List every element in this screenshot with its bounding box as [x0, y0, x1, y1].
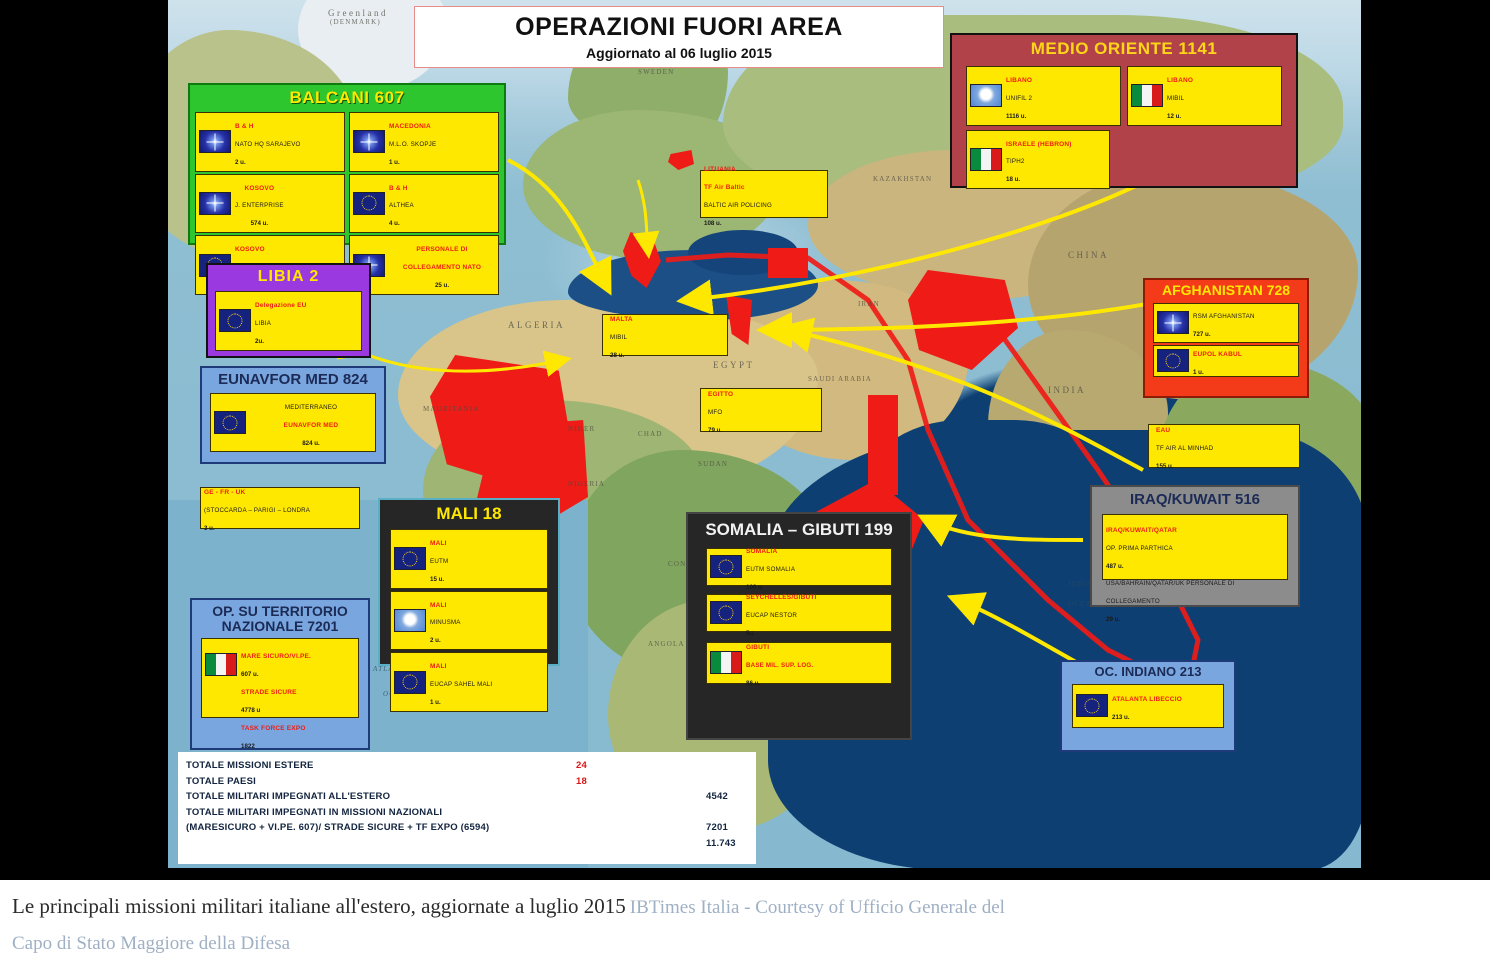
mission-item[interactable]: KOSOVO J. ENTERPRISE 574 u.	[195, 174, 345, 234]
nato-flag-icon	[1157, 311, 1189, 334]
mission-country: EGITTO	[708, 391, 733, 398]
panel-somalia-gibuti[interactable]: SOMALIA – GIBUTI 199 SOMALIA EUTM SOMALI…	[686, 512, 912, 740]
box-egitto[interactable]: EGITTO MFO 79 u.	[700, 388, 822, 432]
mission-operation: TF AIR AL MINHAD	[1156, 445, 1213, 452]
mission-country: MACEDONIA	[389, 123, 431, 130]
eu-flag-icon	[710, 555, 742, 578]
un-flag-icon	[970, 84, 1002, 107]
panel-balcani-title: BALCANI 607	[190, 85, 504, 110]
mission-item[interactable]: RSM AFGHANISTAN 727 u.	[1153, 303, 1299, 343]
italy-flag-icon	[205, 653, 237, 676]
infographic-figure: Greenland (DENMARK) ICELAND NORWAY SWEDE…	[0, 0, 1490, 880]
mission-country: MARE SICURO/VI.PE.	[241, 653, 311, 660]
panel-territorio-nazionale[interactable]: OP. SU TERRITORIO NAZIONALE 7201 MARE SI…	[190, 598, 370, 750]
mission-units: 155 u.	[1156, 463, 1174, 470]
totals-label: TOTALE MILITARI IMPEGNATI ALL'ESTERO	[186, 789, 390, 805]
mission-units: 108 u.	[704, 220, 722, 227]
title-subtitle: Aggiornato al 06 luglio 2015	[586, 45, 772, 61]
mission-operation: MIBIL	[1167, 95, 1184, 102]
liaison-units: 3 u.	[204, 525, 215, 532]
mission-country: STRADE SICURE	[241, 689, 297, 696]
panel-somalia-title: SOMALIA – GIBUTI 199	[688, 514, 910, 546]
nato-flag-icon	[353, 130, 385, 153]
highlight-india-coast	[868, 395, 898, 495]
mission-country: TASK FORCE EXPO	[241, 725, 306, 732]
italy-flag-icon	[710, 651, 742, 674]
mission-country: ISRAELE (HEBRON)	[1006, 141, 1072, 148]
mission-liaison: USA/BAHRAIN/QATAR/UK PERSONALE DI COLLEG…	[1106, 580, 1234, 605]
mission-operation: EUCAP NESTOR	[746, 612, 797, 619]
mission-country: MALI	[430, 663, 447, 670]
box-lituania[interactable]: LITUANIA TF Air Baltic BALTIC AIR POLICI…	[700, 170, 828, 218]
map-label: IRAN	[858, 300, 880, 308]
map-label: (DENMARK)	[330, 18, 381, 26]
mission-units: 213 u.	[1112, 714, 1130, 721]
mission-country: MALI	[430, 602, 447, 609]
mission-item[interactable]: SEYCHELLES/GIBUTI EUCAP NESTOR 5u.	[706, 594, 892, 632]
mission-item[interactable]: MALI MINUSMA 2 u.	[390, 591, 548, 651]
panel-iraq-title: IRAQ/KUWAIT 516	[1092, 487, 1298, 512]
mission-units: 25 u.	[435, 282, 449, 289]
eu-flag-icon	[394, 547, 426, 570]
figure-caption: Le principali missioni militari italiane…	[0, 880, 1490, 976]
mission-units: 1 u.	[430, 699, 441, 706]
mission-detail: BALTIC AIR POLICING	[704, 202, 772, 209]
mission-country: LIBANO	[1006, 77, 1032, 84]
mission-country: IRAQ/KUWAIT/QATAR	[1106, 527, 1177, 534]
totals-value: 18	[576, 774, 587, 790]
panel-oceano-indiano[interactable]: OC. INDIANO 213 ATALANTA LIBECCIO 213 u.	[1060, 660, 1236, 752]
mission-item[interactable]: IRAQ/KUWAIT/QATAR OP. PRIMA PARTHICA 487…	[1102, 514, 1288, 580]
totals-value: 4542	[706, 789, 728, 805]
mission-units: 79 u.	[708, 427, 722, 434]
mission-liaison-units: 29 u.	[1106, 616, 1120, 623]
mission-units: 2u.	[255, 338, 264, 345]
mission-operation: TIPH2	[1006, 158, 1025, 165]
mission-country: KOSOVO	[244, 185, 274, 192]
mission-units: 607 u.	[241, 671, 259, 678]
mission-country: EUPOL KABUL	[1193, 351, 1242, 358]
panel-afghanistan-title: AFGHANISTAN 728	[1145, 280, 1307, 301]
mission-country: Delegazione EU	[255, 302, 307, 309]
mission-units: 1822	[241, 743, 255, 750]
totals-row: TOTALE MILITARI IMPEGNATI IN MISSIONI NA…	[186, 805, 748, 821]
mission-operation: ALTHEA	[389, 202, 414, 209]
mission-operation: LIBIA	[255, 320, 271, 327]
mission-units: 824 u.	[302, 440, 320, 447]
mission-item[interactable]: MARE SICURO/VI.PE. 607 u. STRADE SICURE …	[201, 638, 359, 718]
mission-country: EAU	[1156, 427, 1170, 434]
mission-units: 18 u.	[1006, 176, 1020, 183]
mission-item[interactable]: ISRAELE (HEBRON) TIPH2 18 u.	[966, 130, 1110, 190]
mission-item[interactable]: B & H NATO HQ SARAJEVO 2 u.	[195, 112, 345, 172]
mission-units: 4778 u	[241, 707, 260, 714]
totals-row: TOTALE MILITARI IMPEGNATI ALL'ESTERO 454…	[186, 789, 748, 805]
eu-flag-icon	[219, 309, 251, 332]
panel-medio-oriente[interactable]: MEDIO ORIENTE 1141 LIBANO UNIFIL 2 1116 …	[950, 33, 1298, 188]
mission-country: GIBUTI	[746, 644, 769, 651]
mission-units: 2 u.	[235, 159, 246, 166]
mission-item[interactable]: PERSONALE DI COLLEGAMENTO NATO 25 u.	[349, 235, 499, 295]
box-ge-fr-uk[interactable]: GE - FR - UK (STOCCARDA – PARIGI – LONDR…	[200, 487, 360, 529]
map-label: Greenland	[328, 8, 388, 18]
title-card: OPERAZIONI FUORI AREA Aggiornato al 06 l…	[414, 6, 944, 68]
mission-operation: EUTM	[430, 558, 448, 565]
mission-item[interactable]: EUPOL KABUL 1 u.	[1153, 345, 1299, 377]
mission-operation: EUTM SOMALIA	[746, 566, 795, 573]
liaison-countries: GE - FR - UK	[204, 489, 245, 496]
map-label: CHAD	[638, 430, 663, 438]
mission-item[interactable]: B & H ALTHEA 4 u.	[349, 174, 499, 234]
eu-flag-icon	[394, 671, 426, 694]
totals-label: TOTALE MISSIONI ESTERE	[186, 758, 314, 774]
mission-units: 15 u.	[430, 576, 444, 583]
map-label: INDIA	[1048, 385, 1086, 395]
panel-nazionale-title: OP. SU TERRITORIO NAZIONALE 7201	[192, 600, 368, 636]
panel-libia-title: LIBIA 2	[208, 265, 369, 289]
totals-label: TOTALE MILITARI IMPEGNATI IN MISSIONI NA…	[186, 805, 442, 821]
mission-operation: EUCAP SAHEL MALI	[430, 681, 492, 688]
mission-country: SOMALIA	[746, 548, 777, 555]
liaison-cities: (STOCCARDA – PARIGI – LONDRA	[204, 507, 310, 514]
map-label: NIGER	[568, 425, 595, 433]
panel-afghanistan[interactable]: AFGHANISTAN 728 RSM AFGHANISTAN 727 u. E…	[1143, 278, 1309, 398]
mission-units: 86 u.	[746, 680, 760, 687]
panel-eunavfor-med[interactable]: EUNAVFOR MED 824 MEDITERRANEO EUNAVFOR M…	[200, 366, 386, 464]
mission-operation: M.L.O. SKOPJE	[389, 141, 436, 148]
box-malta[interactable]: MALTA MIBIL 28 u.	[602, 314, 728, 356]
nato-flag-icon	[199, 130, 231, 153]
mission-item[interactable]: Delegazione EU LIBIA 2u.	[215, 291, 362, 351]
caption-main: Le principali missioni militari italiane…	[12, 894, 626, 918]
mission-operation: RSM AFGHANISTAN	[1193, 313, 1255, 320]
mission-item[interactable]: MALI EUTM 15 u.	[390, 529, 548, 589]
map-label: SUDAN	[698, 460, 728, 468]
map-label: CHINA	[1068, 250, 1109, 260]
highlight-turkey-levant	[768, 248, 808, 278]
italy-flag-icon	[1131, 84, 1163, 107]
mission-units: 487 u.	[1106, 563, 1124, 570]
eu-flag-icon	[1157, 349, 1189, 372]
un-flag-icon	[394, 609, 426, 632]
map-label: ALGERIA	[508, 320, 565, 330]
nato-flag-icon	[199, 192, 231, 215]
map-label: SAUDI ARABIA	[808, 375, 872, 383]
box-eau[interactable]: EAU TF AIR AL MINHAD 155 u.	[1148, 424, 1300, 468]
panel-iraq-kuwait[interactable]: IRAQ/KUWAIT 516 IRAQ/KUWAIT/QATAR OP. PR…	[1090, 485, 1300, 607]
mission-units: 727 u.	[1193, 331, 1211, 338]
totals-row: TOTALE PAESI 18	[186, 774, 748, 790]
mission-country: ATALANTA LIBECCIO	[1112, 696, 1182, 703]
mission-country: KOSOVO	[235, 246, 265, 253]
totals-label: (MARESICURO + VI.PE. 607)/ STRADE SICURE…	[186, 820, 489, 836]
panel-medio-oriente-title: MEDIO ORIENTE 1141	[952, 35, 1296, 64]
mission-operation: EUNAVFOR MED	[284, 422, 339, 429]
eu-flag-icon	[214, 411, 246, 434]
panel-eunavfor-title: EUNAVFOR MED 824	[202, 368, 384, 391]
mission-operation: TF Air Baltic	[704, 184, 745, 191]
totals-value: 24	[576, 758, 587, 774]
map-label: ANGOLA	[648, 640, 685, 648]
totals-label: TOTALE PAESI	[186, 774, 256, 790]
mission-operation: MINUSMA	[430, 619, 461, 626]
mission-item[interactable]: SOMALIA EUTM SOMALIA 108 u.	[706, 548, 892, 586]
mission-country: LIBANO	[1167, 77, 1193, 84]
totals-value: 11.743	[706, 836, 736, 852]
mission-item[interactable]: MEDITERRANEO EUNAVFOR MED 824 u.	[210, 393, 376, 453]
mission-item[interactable]: MALI EUCAP SAHEL MALI 1 u.	[390, 652, 548, 712]
mission-item[interactable]: MACEDONIA M.L.O. SKOPJE 1 u.	[349, 112, 499, 172]
mission-country: MALTA	[610, 316, 633, 323]
mission-units: 4 u.	[389, 220, 400, 227]
mission-operation: MIBIL	[610, 334, 627, 341]
mission-units: 2 u.	[430, 637, 441, 644]
eu-flag-icon	[353, 192, 385, 215]
mission-operation: UNIFIL 2	[1006, 95, 1032, 102]
map-label: SWEDEN	[638, 68, 674, 76]
mission-operation: J. ENTERPRISE	[235, 202, 284, 209]
mission-item[interactable]: LIBANO MIBIL 12 u.	[1127, 66, 1282, 126]
eu-flag-icon	[1076, 694, 1108, 717]
mission-country: LITUANIA	[704, 166, 736, 173]
totals-row: TOTALE MISSIONI ESTERE 24	[186, 758, 748, 774]
panel-mali-title: MALI 18	[380, 500, 558, 527]
panel-libia[interactable]: LIBIA 2 Delegazione EU LIBIA 2u.	[206, 263, 371, 358]
mission-item[interactable]: LIBANO UNIFIL 2 1116 u.	[966, 66, 1121, 126]
mission-units: 1116 u.	[1006, 113, 1026, 120]
mission-operation: NATO HQ SARAJEVO	[235, 141, 301, 148]
panel-balcani[interactable]: BALCANI 607 B & H NATO HQ SARAJEVO 2 u. …	[188, 83, 506, 245]
map-label: MAURITANIA	[423, 405, 480, 413]
panel-oceano-indiano-title: OC. INDIANO 213	[1062, 662, 1234, 682]
mission-units: 574 u.	[251, 220, 269, 227]
mission-country: B & H	[389, 185, 408, 192]
mission-operation: MFO	[708, 409, 722, 416]
map-label: EGYPT	[713, 360, 755, 370]
page-title: OPERAZIONI FUORI AREA	[515, 13, 843, 42]
mission-units: 1 u.	[1193, 369, 1204, 376]
map-label: NIGERIA	[568, 480, 605, 488]
panel-mali[interactable]: MALI 18 MALI EUTM 15 u. MALI MINUSMA 2 u…	[378, 498, 560, 666]
mission-units: 28 u.	[610, 352, 624, 359]
mission-country: B & H	[235, 123, 254, 130]
mission-operation: OP. PRIMA PARTHICA	[1106, 545, 1173, 552]
totals-value: 7201	[706, 820, 728, 836]
mission-units: 12 u.	[1167, 113, 1181, 120]
totals-table: TOTALE MISSIONI ESTERE 24 TOTALE PAESI 1…	[178, 752, 756, 864]
totals-row: (MARESICURO + VI.PE. 607)/ STRADE SICURE…	[186, 820, 748, 836]
caption-credit-line2: Capo di Stato Maggiore della Difesa	[12, 933, 290, 954]
italy-flag-icon	[970, 148, 1002, 171]
mission-country: PERSONALE DI COLLEGAMENTO NATO	[403, 246, 481, 271]
mission-operation: BASE MIL. SUP. LOG.	[746, 662, 813, 669]
map-label: KAZAKHSTAN	[873, 175, 932, 183]
caption-credit: IBTimes Italia - Courtesy of Ufficio Gen…	[630, 897, 1005, 918]
mission-country: MEDITERRANEO	[285, 404, 337, 411]
mission-item[interactable]: GIBUTI BASE MIL. SUP. LOG. 86 u.	[706, 642, 892, 684]
eu-flag-icon	[710, 601, 742, 624]
mission-item[interactable]: ATALANTA LIBECCIO 213 u.	[1072, 684, 1224, 728]
mission-country: SEYCHELLES/GIBUTI	[746, 594, 817, 601]
mission-units: 1 u.	[389, 159, 400, 166]
mission-country: MALI	[430, 540, 447, 547]
